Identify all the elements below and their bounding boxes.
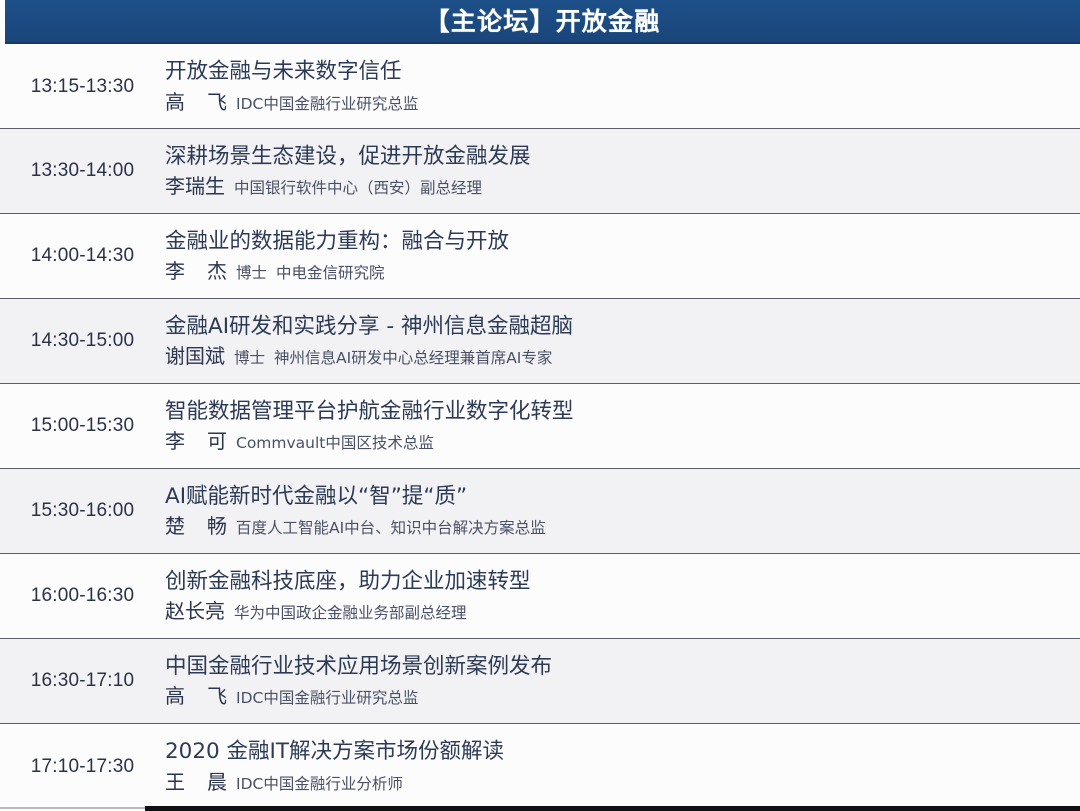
session-content: 金融AI研发和实践分享 - 神州信息金融超脑谢国斌博士神州信息AI研发中心总经理… [165, 313, 1080, 369]
speaker-line: 赵长亮华为中国政企金融业务部副总经理 [165, 599, 1064, 624]
speaker-organization: 中国银行软件中心（西安）副总经理 [234, 179, 482, 198]
speaker-organization: Commvault中国区技术总监 [236, 434, 434, 453]
speaker-line: 高飞IDC中国金融行业研究总监 [165, 90, 1064, 115]
session-title: 智能数据管理平台护航金融行业数字化转型 [165, 398, 1064, 426]
session-title: AI赋能新时代金融以“智”提“质” [165, 483, 1064, 511]
session-content: 金融业的数据能力重构：融合与开放李杰博士中电金信研究院 [165, 228, 1080, 284]
session-title: 金融业的数据能力重构：融合与开放 [165, 228, 1064, 256]
speaker-organization: IDC中国金融行业研究总监 [236, 95, 418, 114]
agenda-row: 13:15-13:30开放金融与未来数字信任高飞IDC中国金融行业研究总监 [0, 44, 1080, 129]
speaker-name: 李瑞生 [165, 174, 225, 199]
speaker-name: 李可 [165, 429, 227, 454]
agenda-row: 14:30-15:00金融AI研发和实践分享 - 神州信息金融超脑谢国斌博士神州… [0, 299, 1080, 384]
speaker-organization: IDC中国金融行业研究总监 [236, 689, 418, 708]
session-title: 2020 金融IT解决方案市场份额解读 [165, 738, 1064, 766]
session-time: 13:30-14:00 [0, 160, 165, 182]
speaker-degree: 博士 [236, 264, 267, 283]
session-time: 16:30-17:10 [0, 670, 165, 692]
speaker-organization: IDC中国金融行业分析师 [236, 775, 403, 794]
agenda-row: 14:00-14:30金融业的数据能力重构：融合与开放李杰博士中电金信研究院 [0, 214, 1080, 299]
session-time: 16:00-16:30 [0, 585, 165, 607]
speaker-name: 王晨 [165, 770, 227, 795]
agenda-card: 【主论坛】开放金融 13:15-13:30开放金融与未来数字信任高飞IDC中国金… [0, 0, 1080, 811]
session-content: AI赋能新时代金融以“智”提“质”楚畅百度人工智能AI中台、知识中台解决方案总监 [165, 483, 1080, 539]
session-content: 中国金融行业技术应用场景创新案例发布高飞IDC中国金融行业研究总监 [165, 653, 1080, 709]
speaker-degree: 博士 [234, 349, 265, 368]
speaker-organization: 华为中国政企金融业务部副总经理 [234, 604, 467, 623]
speaker-line: 李瑞生中国银行软件中心（西安）副总经理 [165, 174, 1064, 199]
session-time: 13:15-13:30 [0, 76, 165, 98]
speaker-name: 李杰 [165, 259, 227, 284]
speaker-organization: 神州信息AI研发中心总经理兼首席AI专家 [274, 349, 552, 368]
speaker-organization: 百度人工智能AI中台、知识中台解决方案总监 [236, 519, 546, 538]
session-title: 深耕场景生态建设，促进开放金融发展 [165, 143, 1064, 171]
session-time: 14:30-15:00 [0, 330, 165, 352]
session-time: 15:00-15:30 [0, 415, 165, 437]
bottom-rule-left-segment [0, 806, 145, 811]
speaker-line: 李杰博士中电金信研究院 [165, 259, 1064, 284]
session-content: 创新金融科技底座，助力企业加速转型赵长亮华为中国政企金融业务部副总经理 [165, 568, 1080, 624]
speaker-name: 楚畅 [165, 514, 227, 539]
session-time: 14:00-14:30 [0, 245, 165, 267]
page-title: 【主论坛】开放金融 [425, 10, 661, 35]
session-time: 15:30-16:00 [0, 500, 165, 522]
speaker-line: 高飞IDC中国金融行业研究总监 [165, 684, 1064, 709]
speaker-line: 李可Commvault中国区技术总监 [165, 429, 1064, 454]
agenda-row: 16:00-16:30创新金融科技底座，助力企业加速转型赵长亮华为中国政企金融业… [0, 554, 1080, 639]
session-content: 深耕场景生态建设，促进开放金融发展李瑞生中国银行软件中心（西安）副总经理 [165, 143, 1080, 199]
speaker-line: 楚畅百度人工智能AI中台、知识中台解决方案总监 [165, 514, 1064, 539]
agenda-row: 17:10-17:302020 金融IT解决方案市场份额解读王晨IDC中国金融行… [0, 724, 1080, 809]
agenda-table: 13:15-13:30开放金融与未来数字信任高飞IDC中国金融行业研究总监13:… [0, 44, 1080, 809]
session-title: 中国金融行业技术应用场景创新案例发布 [165, 653, 1064, 681]
session-content: 智能数据管理平台护航金融行业数字化转型李可Commvault中国区技术总监 [165, 398, 1080, 454]
speaker-name: 谢国斌 [165, 344, 225, 369]
session-title: 开放金融与未来数字信任 [165, 58, 1064, 86]
speaker-line: 王晨IDC中国金融行业分析师 [165, 770, 1064, 795]
bottom-rule [0, 806, 1080, 811]
speaker-organization: 中电金信研究院 [276, 264, 385, 283]
session-content: 2020 金融IT解决方案市场份额解读王晨IDC中国金融行业分析师 [165, 738, 1080, 794]
speaker-name: 赵长亮 [165, 599, 225, 624]
speaker-name: 高飞 [165, 90, 227, 115]
agenda-row: 15:30-16:00AI赋能新时代金融以“智”提“质”楚畅百度人工智能AI中台… [0, 469, 1080, 554]
agenda-row: 13:30-14:00深耕场景生态建设，促进开放金融发展李瑞生中国银行软件中心（… [0, 129, 1080, 214]
session-title: 创新金融科技底座，助力企业加速转型 [165, 568, 1064, 596]
session-title: 金融AI研发和实践分享 - 神州信息金融超脑 [165, 313, 1064, 341]
speaker-line: 谢国斌博士神州信息AI研发中心总经理兼首席AI专家 [165, 344, 1064, 369]
agenda-row: 16:30-17:10中国金融行业技术应用场景创新案例发布高飞IDC中国金融行业… [0, 639, 1080, 724]
session-time: 17:10-17:30 [0, 756, 165, 778]
agenda-row: 15:00-15:30智能数据管理平台护航金融行业数字化转型李可Commvaul… [0, 384, 1080, 469]
session-content: 开放金融与未来数字信任高飞IDC中国金融行业研究总监 [165, 58, 1080, 114]
speaker-name: 高飞 [165, 684, 227, 709]
forum-header-band: 【主论坛】开放金融 [5, 0, 1080, 44]
bottom-rule-right-segment [145, 806, 1080, 811]
